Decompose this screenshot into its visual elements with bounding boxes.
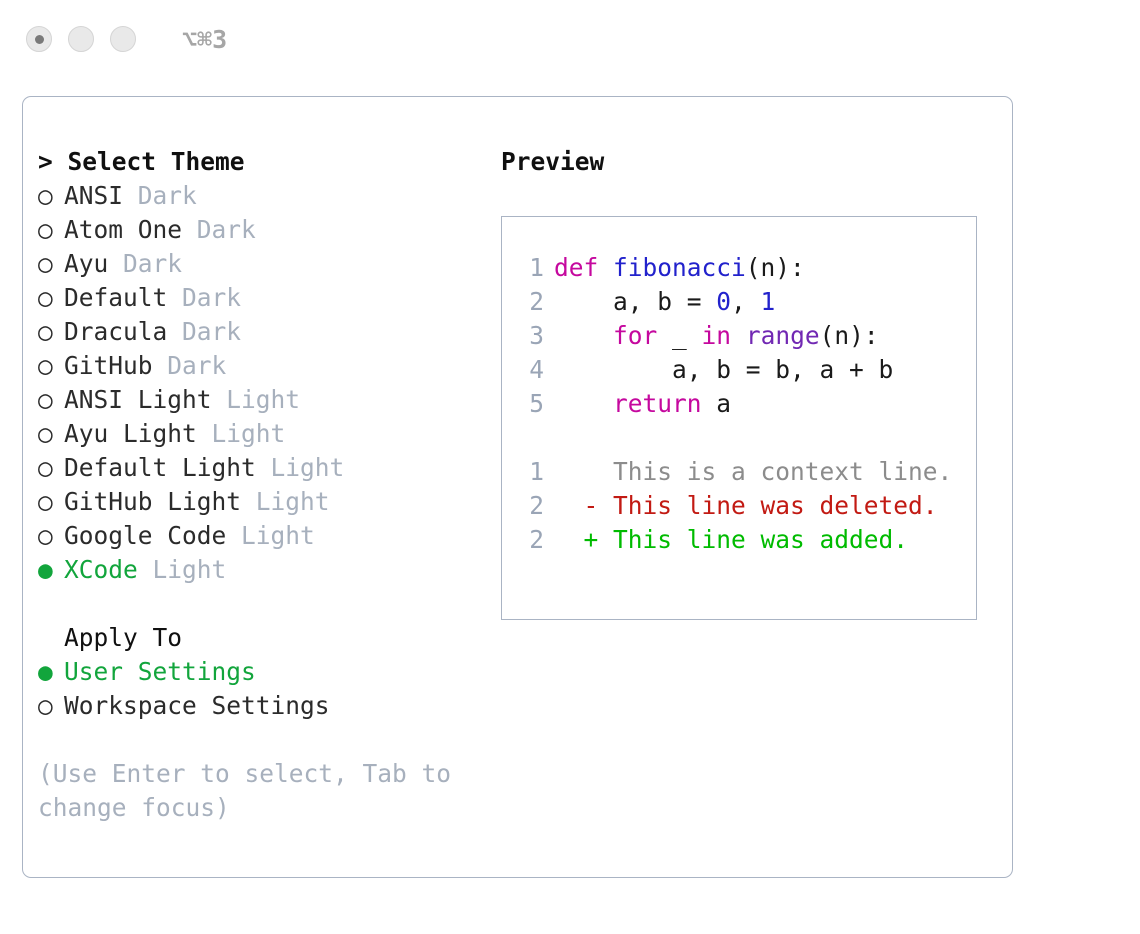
radio-unselected-icon: ○	[38, 315, 64, 349]
code-token-pl	[554, 321, 613, 350]
radio-unselected-icon: ○	[38, 247, 64, 281]
theme-option-variant: Light	[256, 451, 345, 485]
theme-option-ayu[interactable]: ○Ayu Dark	[38, 247, 498, 281]
code-line-number: 1	[514, 251, 554, 285]
theme-option-google-code[interactable]: ○Google Code Light	[38, 519, 498, 553]
keyboard-hint: (Use Enter to select, Tab to change focu…	[38, 757, 458, 825]
theme-option-github-light[interactable]: ○GitHub Light Light	[38, 485, 498, 519]
diff-content: This line was deleted.	[613, 491, 938, 520]
code-line-number: 5	[514, 387, 554, 421]
diff-line-ctx: 1 This is a context line.	[514, 455, 976, 489]
select-theme-heading: > Select Theme	[38, 145, 498, 179]
apply-to-option-user-settings[interactable]: ●User Settings	[38, 655, 498, 689]
code-token-pl: (n):	[746, 253, 805, 282]
theme-option-name: Dracula	[64, 315, 167, 349]
theme-option-variant: Light	[241, 485, 330, 519]
code-token-num: 1	[761, 287, 776, 316]
main-panel: > Select Theme ○ANSI Dark○Atom One Dark○…	[22, 96, 1013, 878]
code-line-text: a, b = b, a + b	[554, 353, 893, 387]
code-line-text: for _ in range(n):	[554, 319, 879, 353]
code-line-text: a, b = 0, 1	[554, 285, 775, 319]
diff-content: This is a context line.	[613, 457, 952, 486]
diff-content: This line was added.	[613, 525, 908, 554]
keyboard-shortcut-label: ⌥⌘3	[182, 27, 227, 52]
diff-line-add: 2 + This line was added.	[514, 523, 976, 557]
radio-unselected-icon: ○	[38, 417, 64, 451]
radio-unselected-icon: ○	[38, 383, 64, 417]
apply-to-list: ●User Settings○Workspace Settings	[38, 655, 498, 723]
diff-line-number: 2	[514, 523, 554, 557]
theme-option-variant: Dark	[167, 315, 241, 349]
code-token-kw: def	[554, 253, 613, 282]
theme-option-dracula[interactable]: ○Dracula Dark	[38, 315, 498, 349]
window-titlebar: ⌥⌘3	[0, 0, 1140, 78]
code-sample: 1def fibonacci(n):2 a, b = 0, 13 for _ i…	[514, 251, 976, 421]
hint-spacer	[38, 723, 498, 757]
radio-unselected-icon: ○	[38, 519, 64, 553]
code-line: 3 for _ in range(n):	[514, 319, 976, 353]
code-token-pl: ,	[731, 287, 761, 316]
theme-option-name: XCode	[64, 553, 138, 587]
diff-sign	[554, 457, 613, 486]
code-token-pl: a	[702, 389, 732, 418]
theme-option-xcode[interactable]: ●XCode Light	[38, 553, 498, 587]
radio-unselected-icon: ○	[38, 485, 64, 519]
theme-option-name: GitHub Light	[64, 485, 241, 519]
code-token-fn: fibonacci	[613, 253, 746, 282]
preview-box: 1def fibonacci(n):2 a, b = 0, 13 for _ i…	[501, 216, 977, 620]
theme-option-name: Atom One	[64, 213, 182, 247]
window-dot-active-icon[interactable]	[26, 26, 52, 52]
radio-unselected-icon: ○	[38, 349, 64, 383]
code-line-number: 4	[514, 353, 554, 387]
code-line: 5 return a	[514, 387, 976, 421]
theme-option-ansi[interactable]: ○ANSI Dark	[38, 179, 498, 213]
code-token-pl	[554, 389, 613, 418]
code-token-kw: for	[613, 321, 657, 350]
code-token-bi: range	[746, 321, 820, 350]
radio-unselected-icon: ○	[38, 179, 64, 213]
preview-column: Preview 1def fibonacci(n):2 a, b = 0, 13…	[501, 145, 1001, 620]
theme-option-variant: Light	[138, 553, 227, 587]
diff-sign: +	[554, 525, 613, 554]
section-spacer	[38, 587, 498, 621]
code-token-pl: _	[657, 321, 701, 350]
theme-option-variant: Light	[212, 383, 301, 417]
theme-option-name: Default Light	[64, 451, 256, 485]
theme-option-name: ANSI	[64, 179, 123, 213]
apply-to-option-name: User Settings	[64, 655, 256, 689]
code-line-number: 2	[514, 285, 554, 319]
theme-list: ○ANSI Dark○Atom One Dark○Ayu Dark○Defaul…	[38, 179, 498, 587]
theme-option-ansi-light[interactable]: ○ANSI Light Light	[38, 383, 498, 417]
theme-option-name: Google Code	[64, 519, 226, 553]
theme-option-variant: Dark	[153, 349, 227, 383]
radio-unselected-icon: ○	[38, 281, 64, 315]
radio-unselected-icon: ○	[38, 689, 64, 723]
code-line: 4 a, b = b, a + b	[514, 353, 976, 387]
code-token-pl: (n):	[820, 321, 879, 350]
theme-option-variant: Dark	[182, 213, 256, 247]
code-token-pl	[731, 321, 746, 350]
theme-option-name: ANSI Light	[64, 383, 212, 417]
theme-option-name: Ayu	[64, 247, 108, 281]
code-diff-separator	[514, 421, 976, 455]
code-token-num: 0	[716, 287, 731, 316]
theme-option-name: Ayu Light	[64, 417, 197, 451]
diff-sign: -	[554, 491, 613, 520]
code-token-kw: return	[613, 389, 702, 418]
theme-option-atom-one[interactable]: ○Atom One Dark	[38, 213, 498, 247]
theme-option-ayu-light[interactable]: ○Ayu Light Light	[38, 417, 498, 451]
theme-option-variant: Dark	[167, 281, 241, 315]
apply-to-heading: Apply To	[38, 621, 498, 655]
code-token-pl: a, b =	[554, 287, 716, 316]
theme-option-variant: Light	[226, 519, 315, 553]
apply-to-option-workspace-settings[interactable]: ○Workspace Settings	[38, 689, 498, 723]
diff-line-text: + This line was added.	[554, 523, 908, 557]
diff-line-number: 2	[514, 489, 554, 523]
code-token-pl: a, b = b, a + b	[554, 355, 893, 384]
diff-sample: 1 This is a context line.2 - This line w…	[514, 455, 976, 557]
code-line-text: return a	[554, 387, 731, 421]
code-line: 1def fibonacci(n):	[514, 251, 976, 285]
preview-heading: Preview	[501, 145, 1001, 179]
theme-option-default-light[interactable]: ○Default Light Light	[38, 451, 498, 485]
code-line-number: 3	[514, 319, 554, 353]
theme-option-name: GitHub	[64, 349, 153, 383]
window-dot-inner	[35, 35, 44, 44]
radio-unselected-icon: ○	[38, 451, 64, 485]
theme-option-default[interactable]: ○Default Dark	[38, 281, 498, 315]
code-line: 2 a, b = 0, 1	[514, 285, 976, 319]
theme-option-variant: Light	[197, 417, 286, 451]
theme-option-name: Default	[64, 281, 167, 315]
radio-selected-icon: ●	[38, 655, 64, 689]
apply-to-option-name: Workspace Settings	[64, 689, 330, 723]
diff-line-text: This is a context line.	[554, 455, 952, 489]
diff-line-number: 1	[514, 455, 554, 489]
theme-picker-column: > Select Theme ○ANSI Dark○Atom One Dark○…	[38, 145, 498, 825]
window-controls	[26, 26, 136, 52]
radio-selected-icon: ●	[38, 553, 64, 587]
theme-option-variant: Dark	[123, 179, 197, 213]
code-line-text: def fibonacci(n):	[554, 251, 805, 285]
window-dot-2-icon[interactable]	[68, 26, 94, 52]
diff-line-text: - This line was deleted.	[554, 489, 938, 523]
theme-option-github[interactable]: ○GitHub Dark	[38, 349, 498, 383]
code-token-kw: in	[702, 321, 732, 350]
theme-option-variant: Dark	[108, 247, 182, 281]
window-dot-3-icon[interactable]	[110, 26, 136, 52]
radio-unselected-icon: ○	[38, 213, 64, 247]
diff-line-del: 2 - This line was deleted.	[514, 489, 976, 523]
